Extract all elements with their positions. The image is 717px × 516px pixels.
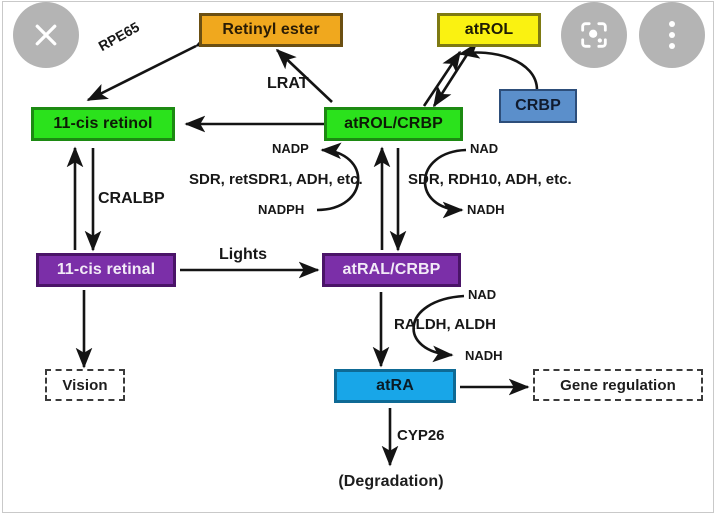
more-options-icon (669, 21, 675, 49)
cofactor-label-nad-upper: NAD (470, 142, 498, 155)
node-label: atRA (376, 378, 414, 394)
label-text: SDR, RDH10, ADH, etc. (408, 171, 572, 188)
edge-label-raldh-aldh: RALDH, ALDH (394, 317, 496, 332)
node-label: atROL/CRBP (344, 116, 443, 132)
edge-label-lights: Lights (219, 247, 267, 263)
cofactor-label-nadp: NADP (272, 142, 309, 155)
node-atrol: atROL (437, 13, 541, 47)
node-atrol-crbp: atROL/CRBP (324, 107, 463, 141)
label-text: RALDH, ALDH (394, 316, 496, 333)
cofactor-label-nadh-lower: NADH (465, 349, 503, 362)
node-crbp: CRBP (499, 89, 577, 123)
arrow-crbp-curve (460, 53, 537, 91)
cofactor-label-nadph: NADPH (258, 203, 304, 216)
label-text: CRALBP (98, 190, 165, 207)
label-text: NADH (467, 202, 505, 217)
node-vision: Vision (45, 369, 125, 401)
node-label: Gene regulation (560, 378, 676, 393)
node-label: 11-cis retinal (57, 262, 155, 278)
node-label: Vision (62, 378, 107, 393)
node-label: Retinyl ester (222, 22, 319, 38)
node-11-cis-retinol: 11-cis retinol (31, 107, 175, 141)
label-text: Lights (219, 246, 267, 263)
cofactor-label-nad-lower: NAD (468, 288, 496, 301)
label-text: CYP26 (397, 427, 445, 444)
label-text: NADH (465, 348, 503, 363)
label-text: LRAT (267, 75, 308, 92)
edge-label-lrat: LRAT (267, 76, 308, 92)
node-11-cis-retinal: 11-cis retinal (36, 253, 176, 287)
close-icon (31, 20, 61, 50)
close-button[interactable] (13, 2, 79, 68)
pathway-diagram-screenshot: Retinyl ester atROL CRBP 11-cis retinol … (0, 0, 717, 516)
edge-label-cralbp: CRALBP (98, 191, 165, 207)
node-label: (Degradation) (338, 474, 443, 490)
edge-label-sdr-left: SDR, retSDR1, ADH, etc. (189, 172, 363, 187)
label-text: NAD (470, 141, 498, 156)
google-lens-icon (577, 18, 611, 52)
more-options-button[interactable] (639, 2, 705, 68)
node-atral-crbp: atRAL/CRBP (322, 253, 461, 287)
label-text: NADPH (258, 202, 304, 217)
label-text: NADP (272, 141, 309, 156)
label-text: SDR, retSDR1, ADH, etc. (189, 171, 363, 188)
node-atra: atRA (334, 369, 456, 403)
node-gene-regulation: Gene regulation (533, 369, 703, 401)
node-label: CRBP (515, 98, 561, 114)
arrow-atrol-to-complex (424, 52, 460, 106)
cofactor-label-nadh-upper: NADH (467, 203, 505, 216)
edge-label-sdr-right: SDR, RDH10, ADH, etc. (408, 172, 572, 187)
edge-label-cyp26: CYP26 (397, 428, 445, 443)
node-label: atRAL/CRBP (343, 262, 441, 278)
node-degradation: (Degradation) (327, 470, 455, 494)
google-lens-button[interactable] (561, 2, 627, 68)
node-label: 11-cis retinol (53, 116, 152, 132)
node-label: atROL (465, 22, 514, 38)
label-text: NAD (468, 287, 496, 302)
node-retinyl-ester: Retinyl ester (199, 13, 343, 47)
arrow-complex-to-atrol (434, 50, 470, 106)
arrow-rpe65 (88, 46, 196, 100)
